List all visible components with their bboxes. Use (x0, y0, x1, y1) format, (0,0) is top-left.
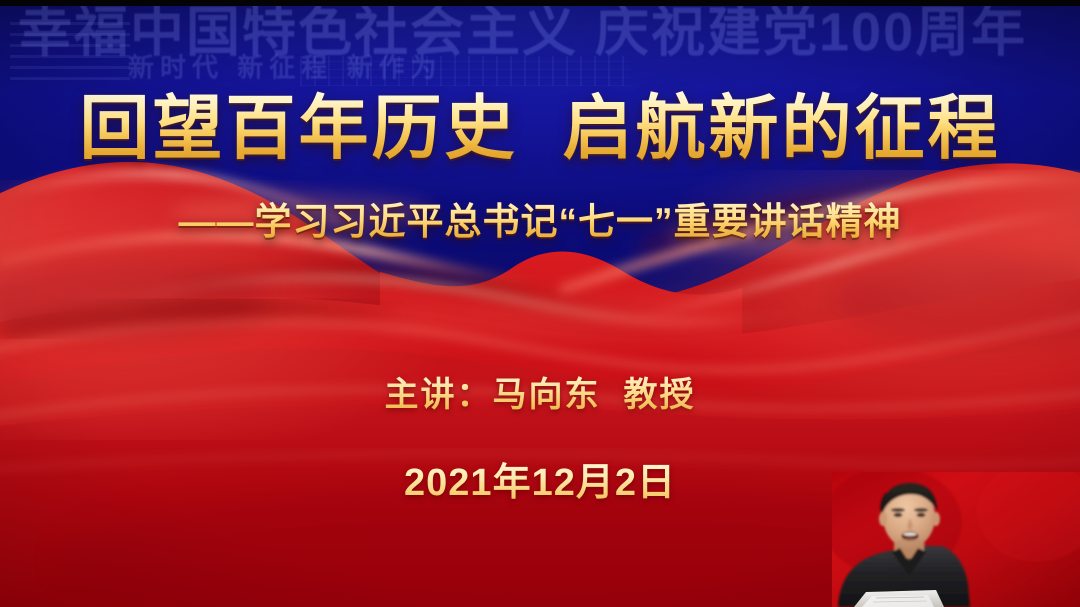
presentation-slide: 幸福中国特色社会主义 庆祝建党100周年 新时代 新征程 新作为 (0, 0, 1080, 607)
slide-title: 回望百年历史 启航新的征程 (0, 88, 1080, 168)
top-letterbox-bar (0, 0, 1080, 6)
slide-subtitle: ——学习习近平总书记“七一”重要讲话精神 (0, 198, 1080, 246)
presenter-video-inset[interactable] (832, 472, 1080, 607)
speaker-line: 主讲：马向东 教授 (0, 373, 1080, 417)
presenter-documents (854, 590, 944, 607)
